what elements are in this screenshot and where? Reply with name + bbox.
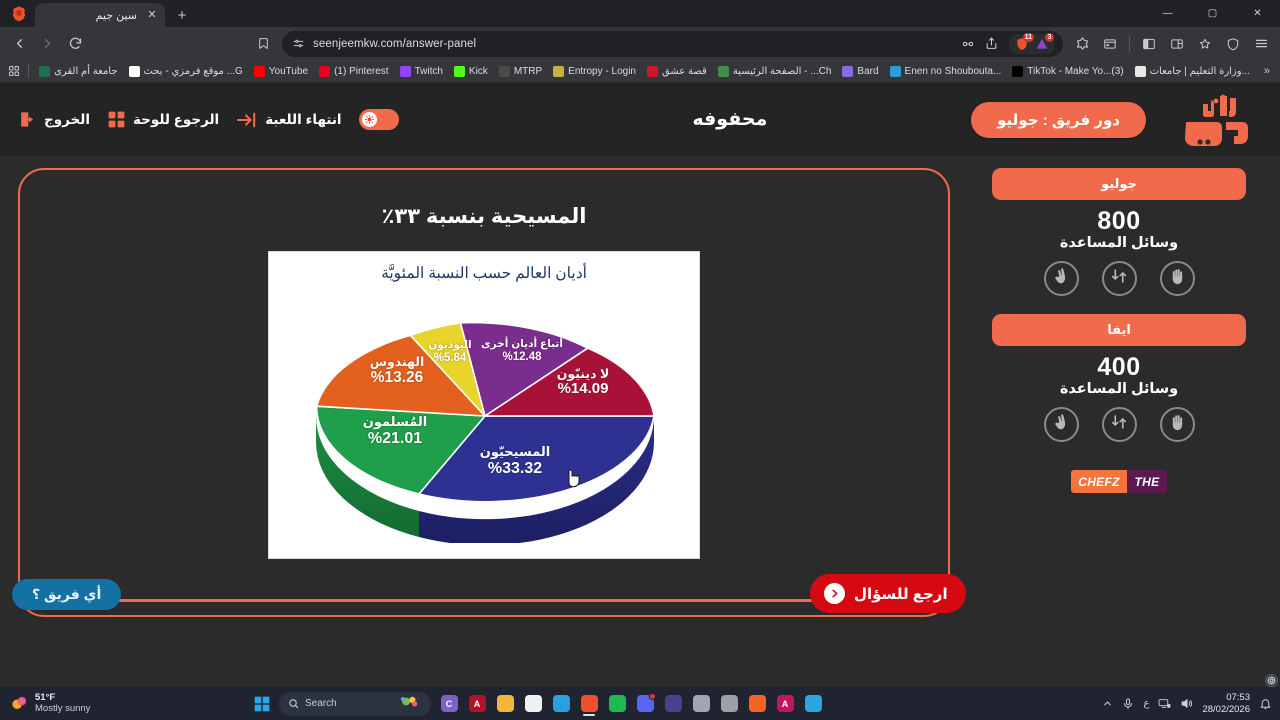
wallet-icon[interactable] <box>1097 31 1123 57</box>
taskbar-app-edge[interactable] <box>800 691 826 717</box>
copilot-sparkle-icon[interactable] <box>399 694 421 714</box>
hand-two-fingers-icon <box>1052 413 1071 437</box>
back-to-question-label: ارجع للسؤال <box>854 585 948 603</box>
bookmark-item[interactable]: Bard <box>837 64 883 79</box>
bookmark-item[interactable]: المركز الوطني للقيا... <box>1256 64 1258 79</box>
tray-notification-bell-icon[interactable] <box>1259 697 1272 710</box>
taskbar-app-telegram[interactable] <box>548 691 574 717</box>
tray-volume-icon[interactable] <box>1180 697 1193 710</box>
window-controls: — ▢ ✕ <box>1145 0 1280 27</box>
weather-widget[interactable]: 51°F Mostly sunny <box>0 693 250 715</box>
header-actions: انتهاء اللعبة الرجوع للوحة <box>18 109 399 130</box>
bookmark-label: TikTok - Make Yo...(3) <box>1027 66 1123 77</box>
bookmark-item[interactable]: Enen no Shoubouta... <box>885 64 1007 79</box>
system-tray: ع 07:53 28/02/2026 <box>1102 692 1280 715</box>
bookmark-icon[interactable] <box>250 31 276 57</box>
app-a-icon: A <box>777 695 794 712</box>
address-bar[interactable]: seenjeemkw.com/answer-panel 11 3 <box>282 31 1063 57</box>
weather-text: 51°F Mostly sunny <box>35 693 90 715</box>
hand-open-icon <box>1168 267 1187 291</box>
tray-chevron-up-icon[interactable] <box>1102 698 1113 709</box>
bookmark-label: Twitch <box>415 66 443 77</box>
exit-button[interactable]: الخروج <box>18 110 90 129</box>
omnibox-actions: 11 3 <box>959 34 1055 54</box>
extension-badge: 3 <box>1045 33 1054 42</box>
bookmark-label: MTRP <box>514 66 542 77</box>
site-settings-icon[interactable] <box>290 36 306 52</box>
weather-sun-icon <box>10 694 29 713</box>
swap-arrows-icon <box>1110 267 1128 290</box>
taskbar-app-adobe-acrobat[interactable]: A <box>464 691 490 717</box>
copilot-icon: C <box>441 695 458 712</box>
app-badge <box>649 693 656 700</box>
lifeline-swap-button[interactable] <box>1102 261 1137 296</box>
brave-rewards-icon[interactable] <box>1069 31 1095 57</box>
team-helpers-label: وسائل المساعدة <box>974 235 1264 251</box>
bookmark-label: Enen no Shoubouta... <box>905 66 1002 77</box>
answer-card: المسيحية بنسبة ٣٣٪ أديان العالم حسب النس… <box>18 168 950 617</box>
bookmark-item[interactable]: Kick <box>449 64 493 79</box>
youtube-icon <box>254 66 265 77</box>
lifeline-two-fingers-button[interactable] <box>1044 261 1079 296</box>
end-game-label: انتهاء اللعبة <box>265 112 341 128</box>
microsoft-store-icon <box>525 695 542 712</box>
twitch-icon <box>400 66 411 77</box>
share-icon[interactable] <box>982 35 1000 53</box>
tab-strip: ✕ سين جيم + — ▢ ✕ <box>0 0 1280 27</box>
team-block: ايفا400وسائل المساعدة <box>974 314 1264 442</box>
file-explorer-icon <box>497 695 514 712</box>
shield-badge: 11 <box>1023 33 1034 42</box>
page-icon <box>718 66 729 77</box>
mtrp-icon <box>499 66 510 77</box>
sponsor-chefz-text: CHEFZ <box>1071 470 1127 493</box>
extension-triangle-icon[interactable]: 3 <box>1034 36 1050 52</box>
taskbar-app-chrome-alt[interactable] <box>716 691 742 717</box>
lifeline-stop-hand-button[interactable] <box>1160 407 1195 442</box>
taskbar-search-placeholder: Search <box>305 698 337 709</box>
arrow-to-bar-icon <box>236 111 258 129</box>
reload-icon[interactable] <box>62 31 88 57</box>
exit-door-icon <box>18 110 37 129</box>
telegram-icon <box>553 695 570 712</box>
taskbar-app-microsoft-store[interactable] <box>520 691 546 717</box>
team-name-button[interactable]: جوليو <box>992 168 1246 200</box>
bookmark-label: YouTube <box>269 66 308 77</box>
tray-language-indicator[interactable]: ع <box>1143 698 1149 709</box>
all-bookmarks-icon[interactable] <box>5 62 23 80</box>
answer-headline: المسيحية بنسبة ٣٣٪ <box>20 204 948 229</box>
kick-icon <box>454 66 465 77</box>
tiktok-icon <box>1012 66 1023 77</box>
back-to-question-button[interactable]: ارجع للسؤال <box>810 574 966 613</box>
adobe-acrobat-icon: A <box>469 695 486 712</box>
taskbar-app-app-drop[interactable] <box>688 691 714 717</box>
google-icon <box>129 66 140 77</box>
bookmark-item[interactable]: وزارة التعليم | جامعات... <box>1130 64 1255 79</box>
browser-menu-icon[interactable] <box>1248 31 1274 57</box>
page-viewport: دور فريق : جوليو محفوفه انتهاء اللعبة <box>0 83 1280 687</box>
question-title: محفوفه <box>489 108 972 131</box>
tab-title: سين جيم <box>41 9 139 22</box>
sound-toggle[interactable] <box>359 109 399 130</box>
start-button-icon[interactable] <box>250 692 274 716</box>
bookmark-label: Bard <box>857 66 878 77</box>
app-drop-icon <box>693 695 710 712</box>
window-close-button[interactable]: ✕ <box>1235 0 1280 27</box>
pinterest-icon <box>319 66 330 77</box>
clock-date: 28/02/2026 <box>1202 704 1250 715</box>
bookmark-label: الصفحة الرئيسية - ...Ch <box>733 66 832 77</box>
tray-overlay-settings-icon[interactable] <box>1265 674 1278 687</box>
team-score: 800 <box>974 207 1264 236</box>
current-turn-badge: دور فريق : جوليو <box>971 102 1146 138</box>
back-icon[interactable] <box>6 31 32 57</box>
team-lifelines <box>974 261 1264 296</box>
bookmark-item[interactable]: الصفحة الرئيسية - ...Ch <box>713 64 837 79</box>
taskbar-app-file-explorer[interactable] <box>492 691 518 717</box>
weather-temp: 51°F <box>35 693 90 704</box>
chrome-alt-icon <box>721 695 738 712</box>
forward-icon[interactable] <box>34 31 60 57</box>
taskbar-app-obsidian[interactable] <box>660 691 686 717</box>
hand-open-icon <box>1168 413 1187 437</box>
spotify-icon <box>609 695 626 712</box>
cloud-app-icon <box>749 695 766 712</box>
exit-label: الخروج <box>44 112 90 128</box>
taskbar-app-brave[interactable] <box>576 691 602 717</box>
chart-image: أديان العالم حسب النسبة المئويَّة <box>268 251 700 559</box>
window-minimize-button[interactable]: — <box>1145 0 1190 27</box>
tray-microphone-icon[interactable] <box>1122 698 1134 710</box>
window-maximize-button[interactable]: ▢ <box>1190 0 1235 27</box>
bookmark-item[interactable]: Twitch <box>395 64 448 79</box>
teams-panel: جوليو800وسائل المساعدةايفا400وسائل المسا… <box>974 168 1264 493</box>
sponsor-logo-the-chefz: THE CHEFZ <box>1071 470 1167 493</box>
new-tab-button[interactable]: + <box>169 3 195 27</box>
bookmark-item[interactable]: MTRP <box>494 64 547 79</box>
bookmark-item[interactable]: قصة عشق <box>642 64 712 79</box>
lifeline-two-fingers-button[interactable] <box>1044 407 1079 442</box>
lifeline-stop-hand-button[interactable] <box>1160 261 1195 296</box>
weather-condition: Mostly sunny <box>35 704 90 715</box>
sponsor-the-text: THE <box>1127 470 1167 493</box>
bookmark-item[interactable]: TikTok - Make Yo...(3) <box>1007 64 1128 79</box>
univ-icon <box>39 66 50 77</box>
tray-network-icon[interactable] <box>1158 697 1171 710</box>
seen-jeem-logo[interactable] <box>1170 92 1262 148</box>
taskbar-app-spotify[interactable] <box>604 691 630 717</box>
app-header: دور فريق : جوليو محفوفه انتهاء اللعبة <box>0 83 1280 156</box>
browser-toolbar: seenjeemkw.com/answer-panel 11 3 <box>0 27 1280 60</box>
content-stage: المسيحية بنسبة ٣٣٪ أديان العالم حسب النس… <box>0 156 1280 687</box>
url-text: seenjeemkw.com/answer-panel <box>313 38 476 50</box>
grid-icon <box>107 110 126 129</box>
team-helpers-label: وسائل المساعدة <box>974 381 1264 397</box>
hand-two-fingers-icon <box>1052 267 1071 291</box>
bookmark-label: (1) Pinterest <box>334 66 388 77</box>
brave-shields-icon[interactable]: 11 <box>1014 36 1030 52</box>
bookmark-label: قصة عشق <box>662 66 707 77</box>
bookmarks-overflow-button[interactable]: » <box>1259 65 1275 77</box>
bookmark-item[interactable]: Entropy - Login <box>548 64 641 79</box>
clock-time: 07:53 <box>1202 692 1250 703</box>
end-game-button[interactable]: انتهاء اللعبة <box>236 111 341 129</box>
shields-panel-icon[interactable] <box>1220 31 1246 57</box>
obsidian-icon <box>665 695 682 712</box>
brave-logo-icon <box>8 3 30 24</box>
swap-arrows-icon <box>1110 413 1128 436</box>
bookmark-label: جامعة أم القرى <box>54 66 118 77</box>
team-block: جوليو800وسائل المساعدة <box>974 168 1264 296</box>
back-to-board-label: الرجوع للوحة <box>133 112 219 128</box>
back-to-board-button[interactable]: الرجوع للوحة <box>107 110 219 129</box>
pie-chart-svg <box>269 283 700 543</box>
bookmark-label: موقع فرمزي - بحث ...G <box>144 66 243 77</box>
brave-icon <box>581 695 598 712</box>
browser-window: ✕ سين جيم + — ▢ ✕ seenjeemkw.com/answer-… <box>0 0 1280 720</box>
bookmark-label: وزارة التعليم | جامعات... <box>1150 66 1250 77</box>
bookmark-label: Entropy - Login <box>568 66 636 77</box>
lifeline-swap-button[interactable] <box>1102 407 1137 442</box>
edge-icon <box>805 695 822 712</box>
bookmark-label: Kick <box>469 66 488 77</box>
taskbar-app-discord[interactable] <box>632 691 658 717</box>
taskbar-app-cloud-app[interactable] <box>744 691 770 717</box>
windows-taskbar: 51°F Mostly sunny Search CAA <box>0 687 1280 720</box>
sidebar-toggle-icon[interactable] <box>1136 31 1162 57</box>
chevron-right-circle-icon <box>824 583 845 604</box>
split-view-icon[interactable] <box>1164 31 1190 57</box>
extension-icons: 11 3 <box>1009 34 1055 54</box>
taskbar-apps: Search CAA <box>250 691 826 717</box>
bard-icon <box>842 66 853 77</box>
anime-icon <box>890 66 901 77</box>
leo-ai-icon[interactable] <box>959 35 977 53</box>
bookmark-item[interactable]: موقع فرمزي - بحث ...G <box>124 64 248 79</box>
which-team-button[interactable]: أي فريق ؟ <box>12 579 121 610</box>
tab-close-icon[interactable]: ✕ <box>145 8 159 22</box>
toggle-knob <box>362 112 377 127</box>
taskbar-search-box[interactable]: Search <box>279 692 431 716</box>
heart-icon <box>647 66 658 77</box>
team-name-button[interactable]: ايفا <box>992 314 1246 346</box>
ministry-icon <box>1135 66 1146 77</box>
entropy-icon <box>553 66 564 77</box>
taskbar-clock[interactable]: 07:53 28/02/2026 <box>1202 692 1250 715</box>
bookmark-item[interactable]: جامعة أم القرى <box>34 64 123 79</box>
chart-title: أديان العالم حسب النسبة المئويَّة <box>269 264 699 283</box>
add-bookmark-star-icon[interactable] <box>1192 31 1218 57</box>
bookmark-item[interactable]: YouTube <box>249 64 313 79</box>
pie-chart: المسيحيّون %33.32 المُسلمون %21.01 الهند… <box>269 283 700 543</box>
bookmarks-bar: جامعة أم القرىموقع فرمزي - بحث ...GYouTu… <box>0 60 1280 83</box>
taskbar-app-app-a[interactable]: A <box>772 691 798 717</box>
browser-tab[interactable]: ✕ سين جيم <box>35 3 165 27</box>
team-lifelines <box>974 407 1264 442</box>
team-score: 400 <box>974 353 1264 382</box>
bookmark-item[interactable]: (1) Pinterest <box>314 64 393 79</box>
taskbar-app-copilot[interactable]: C <box>436 691 462 717</box>
